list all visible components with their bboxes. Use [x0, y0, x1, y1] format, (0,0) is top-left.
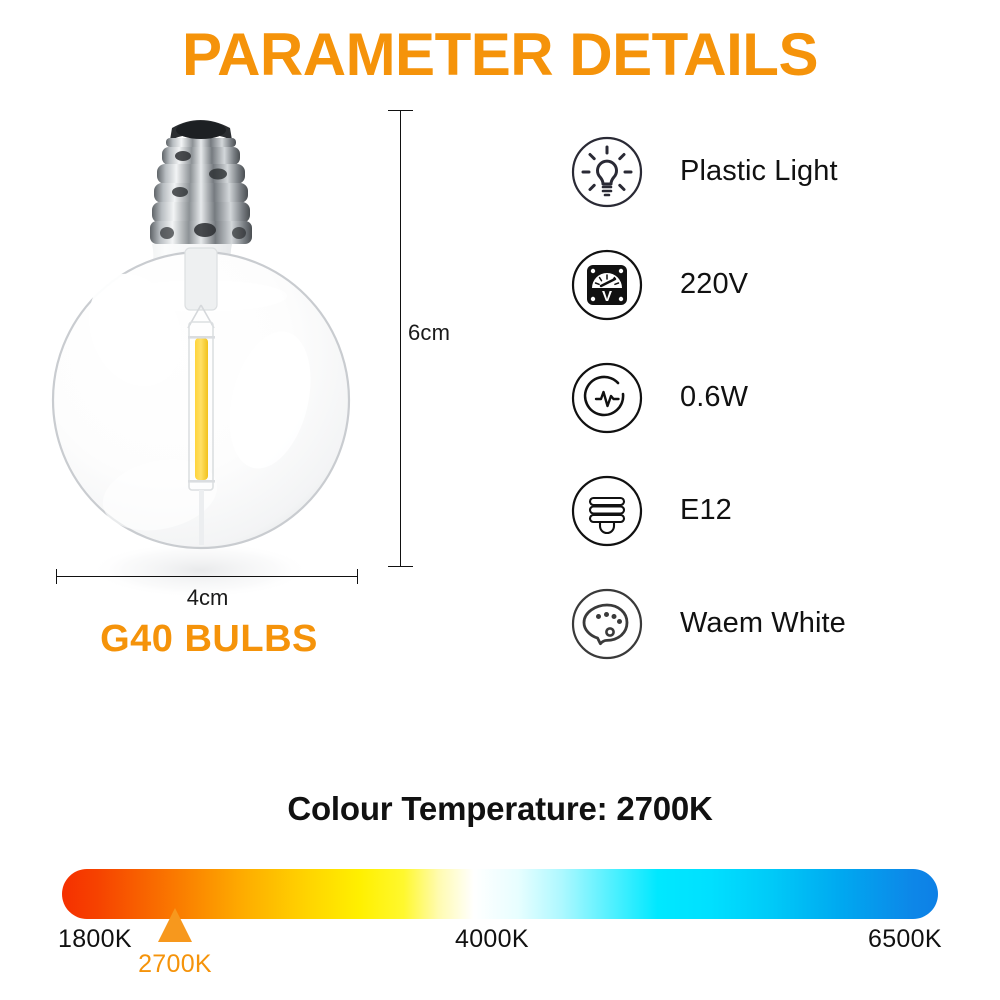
colour-temperature-tick-max: 6500K [868, 925, 942, 954]
colour-temperature-tick-mid: 4000K [455, 925, 529, 954]
spec-label: Plastic Light [680, 155, 838, 188]
power-pulse-icon [570, 361, 644, 435]
bulb-rays-icon [570, 135, 644, 209]
colour-temperature-title: Colour Temperature: 2700K [0, 790, 1000, 828]
height-dimension-label: 6cm [408, 320, 450, 346]
spec-row: 0.6W [570, 341, 970, 454]
bulb-illustration [40, 100, 370, 600]
spec-label: 0.6W [680, 381, 748, 414]
svg-text:V: V [602, 288, 612, 305]
spec-row: V 220V [570, 228, 970, 341]
spec-label: 220V [680, 268, 748, 301]
colour-temperature-gradient-bar [62, 869, 938, 919]
spec-row: E12 [570, 454, 970, 567]
screw-base-icon [570, 474, 644, 548]
colour-temperature-marker [158, 908, 192, 942]
product-name: G40 BULBS [0, 618, 418, 661]
spec-list: Plastic Light V [570, 115, 970, 680]
colour-temperature-tick-min: 1800K [58, 925, 132, 954]
product-photo [40, 100, 370, 600]
spec-label: E12 [680, 494, 732, 527]
width-dimension-label: 4cm [0, 585, 415, 611]
voltmeter-icon: V [570, 248, 644, 322]
page-title: PARAMETER DETAILS [0, 20, 1000, 89]
spec-row: Waem White [570, 567, 970, 680]
spec-row: Plastic Light [570, 115, 970, 228]
colour-temperature-marker-label: 2700K [110, 950, 240, 979]
palette-icon [570, 587, 644, 661]
screw-base [150, 120, 252, 244]
spec-label: Waem White [680, 607, 846, 640]
